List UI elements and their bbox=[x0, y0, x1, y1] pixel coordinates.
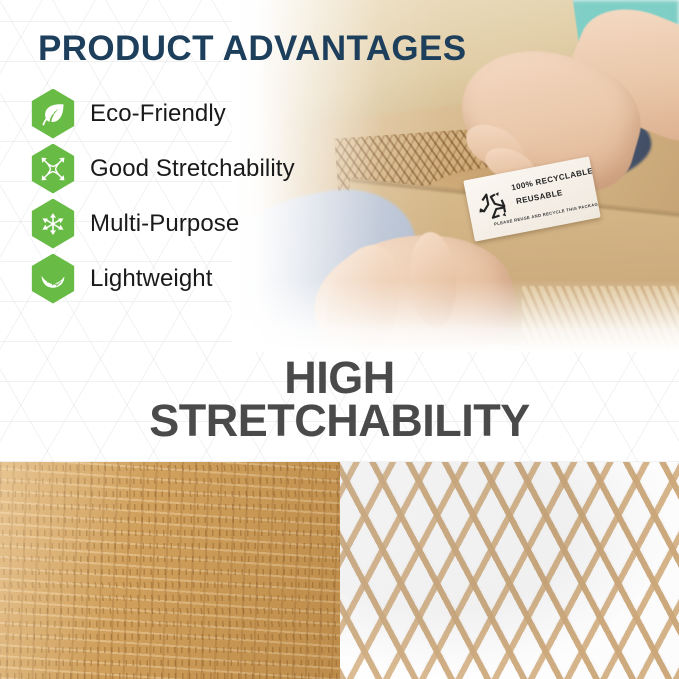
feature-label: Eco-Friendly bbox=[90, 100, 226, 128]
feature-label: Lightweight bbox=[90, 265, 213, 293]
stretched-honeycomb-panel bbox=[340, 462, 679, 679]
product-infographic: 100% RECYCLABLE REUSABLE PLEASE REUSE AN… bbox=[0, 0, 679, 679]
honeycomb-cell-shading bbox=[340, 462, 679, 679]
feature-item-multi-purpose: Multi-Purpose bbox=[30, 196, 430, 251]
comparison-section bbox=[0, 462, 679, 679]
woven-basket-surface bbox=[522, 286, 679, 352]
multi-direction-arrows-icon bbox=[30, 199, 76, 249]
section-subtitle: HIGH STRETCHABILITY bbox=[0, 356, 679, 442]
leaf-icon bbox=[30, 89, 76, 139]
paper-sheen bbox=[0, 462, 340, 679]
subtitle-line-2: STRETCHABILITY bbox=[0, 399, 679, 442]
feature-item-lightweight: Lightweight bbox=[30, 251, 430, 306]
feature-list: Eco-Friendly bbox=[30, 86, 430, 306]
page-title: PRODUCT ADVANTAGES bbox=[38, 31, 467, 66]
feature-label: Multi-Purpose bbox=[90, 210, 239, 238]
feature-item-good-stretchability: Good Stretchability bbox=[30, 141, 430, 196]
subtitle-line-1: HIGH bbox=[0, 356, 679, 399]
unstretched-paper-panel bbox=[0, 462, 340, 679]
feather-icon bbox=[30, 254, 76, 304]
feature-item-eco-friendly: Eco-Friendly bbox=[30, 86, 430, 141]
label-line-1: 100% RECYCLABLE bbox=[511, 166, 594, 192]
feature-label: Good Stretchability bbox=[90, 155, 295, 183]
top-section: 100% RECYCLABLE REUSABLE PLEASE REUSE AN… bbox=[0, 0, 679, 462]
stretch-arrows-icon bbox=[30, 144, 76, 194]
label-line-2: REUSABLE bbox=[515, 188, 563, 206]
